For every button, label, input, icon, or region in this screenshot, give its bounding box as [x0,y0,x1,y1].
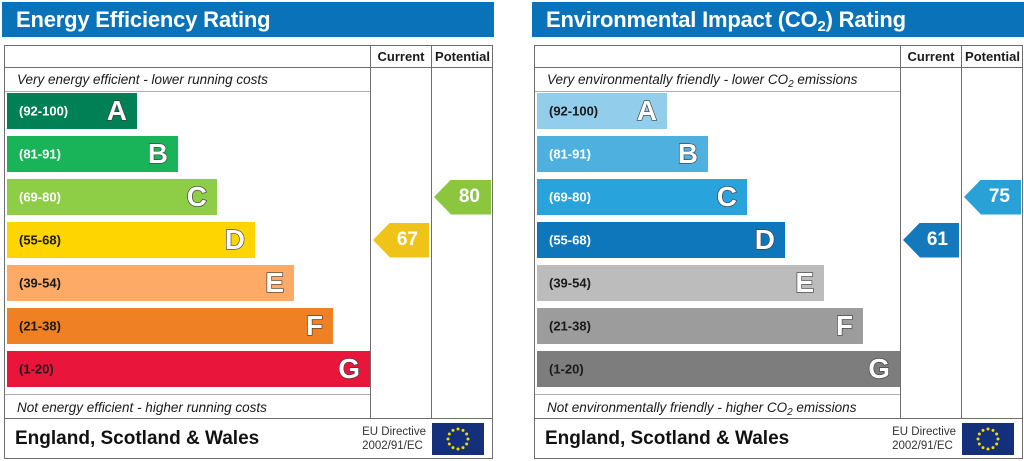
environmental-caption-top-pre: Very environmentally friendly - lower CO [547,72,788,87]
energy-column-divider-current [370,46,371,418]
energy-band-range-d: (55-68) [19,233,61,248]
energy-efficiency-title-bar: Energy Efficiency Rating [2,2,494,37]
environmental-band-list: (92-100)A(81-91)B(69-80)C(55-68)D(39-54)… [535,93,900,394]
environmental-band-e: (39-54)E [537,265,824,301]
environmental-band-c: (69-80)C [537,179,747,215]
energy-band-letter-d: D [225,226,245,254]
eu-flag-icon [432,423,484,455]
energy-caption-bottom: Not energy efficient - higher running co… [5,394,370,419]
energy-efficiency-grid: Current Potential Very energy efficient … [4,45,493,419]
environmental-band-range-f: (21-38) [549,319,591,334]
environmental-caption-bottom-sub: 2 [787,407,793,418]
environmental-footer: England, Scotland & Wales EU Directive 2… [534,419,1023,459]
environmental-caption-bottom: Not environmentally friendly - higher CO… [535,394,900,419]
energy-band-c: (69-80)C [7,179,217,215]
energy-band-f: (21-38)F [7,308,333,344]
environmental-band-b: (81-91)B [537,136,708,172]
environmental-band-letter-e: E [795,269,814,297]
environmental-band-range-b: (81-91) [549,147,591,162]
environmental-band-range-g: (1-20) [549,362,584,377]
environmental-footer-region: England, Scotland & Wales [545,428,789,450]
energy-band-range-c: (69-80) [19,190,61,205]
energy-potential-header: Potential [432,49,493,64]
energy-efficiency-panel: Energy Efficiency Rating Current Potenti… [2,0,494,461]
environmental-band-letter-d: D [755,226,775,254]
energy-band-range-e: (39-54) [19,276,61,291]
energy-band-letter-e: E [265,269,284,297]
energy-band-range-b: (81-91) [19,147,61,162]
energy-band-letter-b: B [148,140,168,168]
energy-band-list: (92-100)A(81-91)B(69-80)C(55-68)D(39-54)… [5,93,370,394]
energy-footer-directive: EU Directive 2002/91/EC [362,425,426,453]
environmental-impact-title: Environmental Impact (CO2) Rating [546,7,906,33]
energy-band-b: (81-91)B [7,136,178,172]
energy-efficiency-title: Energy Efficiency Rating [16,7,270,33]
environmental-band-range-c: (69-80) [549,190,591,205]
environmental-band-letter-c: C [717,183,737,211]
energy-current-rating-arrow: 67 [373,223,429,258]
environmental-band-g: (1-20)G [537,351,900,387]
environmental-footer-directive: EU Directive 2002/91/EC [892,425,956,453]
energy-band-letter-c: C [187,183,207,211]
environmental-caption-bottom-pre: Not environmentally friendly - higher CO [547,400,787,415]
environmental-caption-top-post: emissions [794,72,858,87]
environmental-current-rating-arrow: 61 [903,223,959,258]
energy-column-divider-potential [431,46,432,418]
environmental-band-letter-g: G [868,355,890,383]
energy-band-range-f: (21-38) [19,319,61,334]
environmental-band-d: (55-68)D [537,222,785,258]
environmental-title-main: Environmental Impact (CO [546,7,817,32]
energy-band-a: (92-100)A [7,93,137,129]
environmental-band-range-d: (55-68) [549,233,591,248]
environmental-current-header: Current [901,49,961,64]
energy-band-e: (39-54)E [7,265,294,301]
energy-band-g: (1-20)G [7,351,370,387]
epc-chart-page: Energy Efficiency Rating Current Potenti… [0,0,1024,461]
environmental-band-letter-f: F [836,312,853,340]
energy-potential-rating-arrow: 80 [434,180,491,215]
environmental-directive-line1: EU Directive [892,426,956,438]
environmental-potential-rating-arrow: 75 [964,180,1021,215]
environmental-column-divider-current [900,46,901,418]
energy-footer-region: England, Scotland & Wales [15,428,259,450]
environmental-band-letter-a: A [637,97,657,125]
energy-footer: England, Scotland & Wales EU Directive 2… [4,419,493,459]
energy-directive-line2: 2002/91/EC [362,440,423,452]
energy-caption-top: Very energy efficient - lower running co… [5,68,370,92]
environmental-impact-title-bar: Environmental Impact (CO2) Rating [532,2,1024,37]
energy-band-letter-g: G [338,355,360,383]
energy-band-range-a: (92-100) [19,104,68,119]
environmental-impact-grid: Current Potential Very environmentally f… [534,45,1023,419]
energy-directive-line1: EU Directive [362,426,426,438]
environmental-caption-top: Very environmentally friendly - lower CO… [535,68,900,92]
energy-current-header: Current [371,49,431,64]
energy-band-range-g: (1-20) [19,362,54,377]
environmental-band-letter-b: B [678,140,698,168]
environmental-caption-bottom-post: emissions [793,400,857,415]
energy-band-letter-a: A [107,97,127,125]
eu-flag-icon [962,423,1014,455]
environmental-title-sub: 2 [817,18,825,35]
environmental-directive-line2: 2002/91/EC [892,440,953,452]
environmental-title-tail: ) Rating [826,7,906,32]
environmental-band-range-a: (92-100) [549,104,598,119]
environmental-impact-panel: Environmental Impact (CO2) Rating Curren… [532,0,1024,461]
environmental-caption-top-sub: 2 [788,79,794,90]
energy-band-letter-f: F [306,312,323,340]
environmental-potential-header: Potential [962,49,1023,64]
environmental-band-a: (92-100)A [537,93,667,129]
energy-band-d: (55-68)D [7,222,255,258]
environmental-column-divider-potential [961,46,962,418]
environmental-band-range-e: (39-54) [549,276,591,291]
environmental-band-f: (21-38)F [537,308,863,344]
